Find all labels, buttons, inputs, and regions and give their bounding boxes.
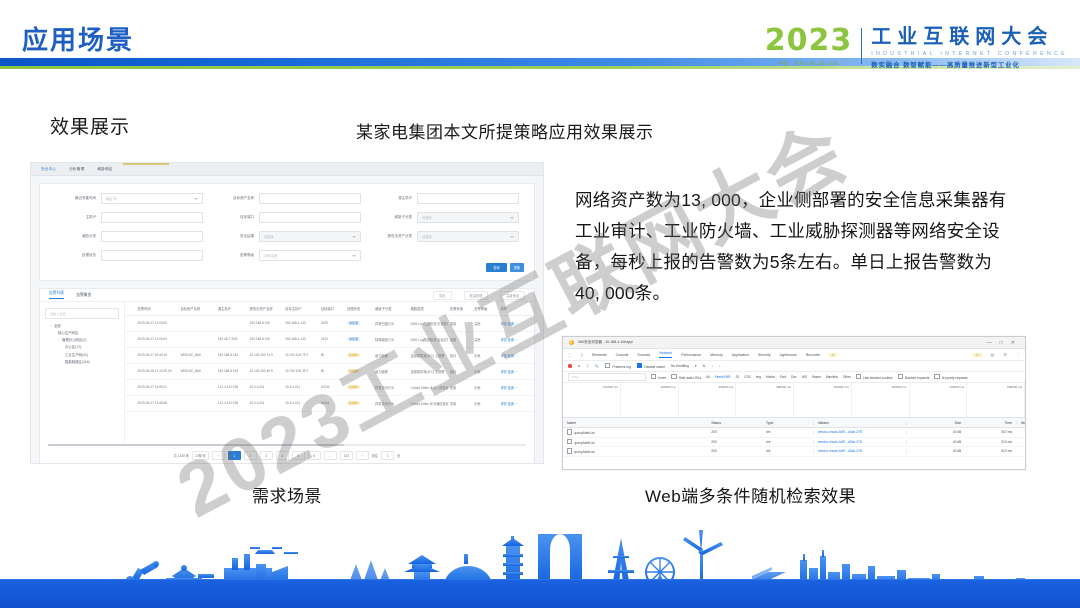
console-field: 威胁子分类请选择 [366,212,524,223]
console-field-input[interactable]: 最近7天 [101,193,203,204]
console-advanced-filter-button[interactable]: 高级筛选 [500,291,525,300]
timeline-tick-label: 500000 ms [834,385,849,389]
blocked-cookies-checkbox[interactable] [856,374,861,379]
cell-time: 2023-05-07 13:48:46 [135,401,178,405]
chevron-down-icon[interactable]: ▾ [695,364,697,368]
cell-source: 探针 [448,353,472,358]
record-network-icon[interactable] [568,364,572,368]
filter-funnel-icon[interactable]: ▽ [586,364,589,368]
cell-threat-desc: 连接数异常(IEC) 上报警 [409,353,448,358]
cell-attacked-asset: 192.168.8.119 [248,321,284,325]
console-col-target-asset: 目标资产名称 [178,306,215,311]
console-tree-node-label: 智能制造区(115) [65,360,90,364]
devtools-tab-network[interactable]: Network [659,351,672,358]
cell-threat-desc: Cobalt Strike 木马通信检测事件- [409,401,448,406]
pagination-page-4[interactable]: 4 [276,451,289,460]
pagination-page-3[interactable]: 3 [260,451,273,460]
cell-actions[interactable]: 详情 处置 ··· [498,369,534,374]
table-row[interactable]: 2023-05-07 12:03:04 192.168.8.119 192.16… [125,316,534,332]
filter-type-manifest[interactable]: Manifest [826,375,838,379]
cell-actions[interactable]: 详情 处置 ··· [498,385,534,390]
cell-actions[interactable]: 详情 处置 ··· [498,337,534,342]
page-title: 应用场景 [22,20,134,57]
filter-type-css[interactable]: CSS [744,375,751,379]
cell-target-asset: WEB.NC_BAK [178,353,215,357]
pagination-goto-input[interactable]: 1 [381,451,394,460]
request-status: 200 [707,440,762,444]
pagination-prev[interactable]: ‹ [212,451,225,460]
console-tree-node[interactable]: −全部 [45,325,119,329]
status-badge: 处理中 [347,385,360,389]
console-col-status: 处理状态 [345,306,373,311]
invert-toggle[interactable]: Invert [651,374,666,380]
logo-text-block: 工业互联网大会 INDUSTRIAL INTERNET CONFERENCE 数… [871,26,1068,69]
inspect-element-icon[interactable]: ⬚ [568,352,572,357]
footer-skyline-decoration [0,516,1080,608]
issues-icon[interactable]: ▤ [991,352,995,357]
export-har-icon[interactable]: ↑ [719,364,721,368]
filter-type-ws[interactable]: WS [802,375,807,379]
console-field: 源主机IP [366,193,524,204]
cell-port: 3139 [319,321,345,325]
request-name: queryAlertList [563,439,707,445]
request-name-label: queryAlertList [574,441,594,445]
search-icon[interactable]: 🔍 [595,364,599,368]
cell-attacked-asset: 10.3.4.211 [248,401,284,405]
conference-logo: 2023 中国 · 苏州 6月14日-16日 工业互联网大会 INDUSTRIA… [765,26,1068,69]
console-tab-2[interactable]: 威胁响应 [97,167,112,172]
devtools-tab-application[interactable]: Application [732,353,749,357]
disable-cache-checkbox[interactable] [637,363,642,368]
console-field-input[interactable] [101,250,203,261]
timeline-tick-label: 200000 ms [661,385,676,389]
console-batch-button[interactable]: 批量处理 [464,291,489,300]
window-minimize-button[interactable]: — [987,340,996,346]
devtools-recorder-badge: 4 [829,353,837,357]
console-field-input[interactable] [259,193,361,204]
request-type: xhr [762,449,813,453]
network-timeline-overview[interactable]: 100000 ms 200000 ms 300000 ms 400000 ms … [563,383,1025,418]
request-size: 40 kB [906,440,966,444]
invert-checkbox[interactable] [651,374,656,379]
console-field: 受攻击资产分类请选择 [366,231,524,242]
disable-cache-toggle[interactable]: Disable cache [637,363,665,369]
cell-actions[interactable]: 详情 处置 ··· [498,353,534,358]
devtools-panel-tabs: ⬚ ▯ Elements Console Sources Network Per… [563,349,1025,361]
logo-divider [861,28,862,64]
console-tree-node[interactable]: 办公区(72) [45,346,119,350]
console-alert-table: 告警时间 目标资产名称 源主机IP 受攻击资产名称 目标主机IP 目标端口 处理… [125,302,534,444]
timeline-tick-label: 100000 ms [603,385,618,389]
device-toolbar-icon[interactable]: ▯ [581,352,583,357]
throttling-select[interactable]: No throttling [671,364,689,368]
devtools-tab-performance[interactable]: Performance [681,353,701,357]
console-field: 目标资产名称 [208,193,366,204]
table-row[interactable]: 2023-05-06 17:10:29.03 WEB.NC_BAK 192.16… [125,364,534,380]
network-request-row[interactable]: queryAlertList 200 xhr vendor-chunk-5df7… [563,447,1025,457]
console-field: 主机IP [50,212,208,223]
preserve-log-toggle[interactable]: Preserve log [605,363,631,369]
logo-year: 2023 [765,26,853,56]
console-field-label: 告警等级 [208,253,254,258]
console-field-input[interactable] [259,212,361,223]
console-col-target-ip: 目标主机IP [283,306,319,311]
pagination-page-6[interactable]: 6 [308,451,321,460]
console-field-label: 处理状态 [50,253,96,258]
console-col-threat-desc: 威胁描述 [409,306,448,311]
cell-target-asset: WEB.NC_BAK [178,369,215,373]
pagination-goto-label: 前往 [372,453,378,458]
cell-target-ip: 10.700.100.39 2 [283,369,319,373]
cell-source: 流量 [448,337,472,342]
request-initiator: vendor-chunk-5df7...d3cb.278 [813,449,906,453]
cell-target-ip: 10.3.4.211 [283,385,319,389]
console-tab-0[interactable]: 安全中心 [41,167,56,172]
console-tree-node[interactable]: 工业生产网(41) [45,354,119,358]
hide-data-urls-checkbox[interactable] [671,374,676,379]
pagination-next[interactable]: › [356,451,369,460]
timeline-tick-label: 700000 ms [949,385,964,389]
status-badge: 未处理 [347,337,360,341]
network-col-name[interactable]: Name [563,421,707,425]
filter-type-doc[interactable]: Doc [791,375,797,379]
request-type-icon [567,448,572,453]
cell-time: 2023-05-07 12:03:04 [135,321,178,325]
hide-data-urls-label: Hide data URLs [679,376,702,380]
console-col-actions: 操作 [498,306,534,311]
cell-port: 10244 [319,385,345,389]
cell-source-ip: 121.4.212.196 [216,401,248,405]
hide-data-urls-toggle[interactable]: Hide data URLs [671,374,701,380]
console-subtab-alert-list[interactable]: 告警列表 [49,291,64,299]
security-console-screenshot: 安全中心 分析管理 威胁响应 最近采集时间最近7天 目标资产名称 源主机IP 主… [30,162,544,464]
devtools-tab-recorder[interactable]: Recorder [806,353,820,357]
request-initiator-link[interactable]: vendor-chunk-5df7...d3cb.278 [818,440,862,444]
filter-type-img[interactable]: Img [756,375,761,379]
cell-target-ip: 192.168.4.133 [283,337,319,341]
request-size: 40 kB [906,449,966,453]
devtools-tab-memory[interactable]: Memory [710,353,723,357]
console-form-row: 威胁分类 攻击结果请选择 受攻击资产分类请选择 [50,231,524,242]
network-col-time[interactable]: Time [965,421,1016,425]
filter-type-js[interactable]: JS [735,375,739,379]
console-tree-search-input[interactable]: 请输入名称 [45,308,119,319]
cell-status: 处理中 [345,401,373,405]
scrollbar-thumb[interactable] [48,444,344,447]
console-search-button[interactable]: 查询 [486,263,506,272]
console-field: 最近采集时间最近7天 [50,193,208,204]
window-maximize-button[interactable]: □ [1000,340,1007,346]
console-col-source-ip: 源主机IP [216,306,248,311]
console-field-input[interactable]: 请选择 [417,231,519,242]
console-col-source: 告警来源 [448,306,472,311]
network-filter-bar: Filter Invert Hide data URLs All Fetch/X… [563,372,1025,383]
console-tree-node-label: 工业生产网(41) [65,353,88,357]
cell-threat-subtype: 特殊威胁行为 [373,337,409,342]
skyline-water [0,580,1080,608]
timeline-tick: 700000 ms [910,383,968,417]
preserve-log-label: Preserve log [612,365,631,369]
request-type: xhr [762,440,813,444]
filter-type-font[interactable]: Font [780,375,786,379]
cell-source: 流量 [448,385,472,390]
console-results-body: 请输入名称 −全部 核心生产网区 −管理办公网区(2) 办公区(72) 工业生产… [40,302,534,444]
network-conditions-icon[interactable]: ⇅ [702,364,705,368]
logo-year-block: 2023 中国 · 苏州 6月14日-16日 [765,26,862,67]
cell-threat-desc: Cobalt Strike 木马入侵检测事件- [409,385,448,390]
network-toolbar: ⊘ ▽ 🔍 Preserve log Disable cache No thro… [563,361,1025,372]
devtools-tab-elements[interactable]: Elements [592,353,607,357]
filter-type-all[interactable]: All [706,375,710,379]
third-party-label: 3rd-party requests [942,376,968,380]
console-form-row: 主机IP 目标端口 威胁子分类请选择 [50,212,524,223]
settings-gear-icon[interactable]: ⚙ [1003,352,1007,357]
cell-time: 2023-05-06 17:10:29.03 [135,369,178,373]
pagination-page-last[interactable]: 143 [340,451,353,460]
timeline-tick-label: 600000 ms [892,385,907,389]
cell-status: 处理中 [345,385,373,389]
console-tree-node[interactable]: 智能制造区(115) [45,361,119,365]
console-col-target-port: 目标端口 [319,306,345,311]
clear-network-icon[interactable]: ⊘ [578,364,581,368]
console-form-row: 最近采集时间最近7天 目标资产名称 源主机IP [50,193,524,204]
logo-chinese-name: 工业互联网大会 [871,27,1068,48]
console-field-label: 最近采集时间 [50,196,96,201]
console-field-label: 主机IP [50,215,96,220]
filter-type-other[interactable]: Other [843,375,851,379]
cell-attacked-asset: 10.100.100.74 9 [248,353,284,357]
cell-time: 2023-05-07 12:00:04 [135,337,178,341]
blocked-cookies-label: Has blocked cookies [863,376,892,380]
third-party-checkbox[interactable] [934,374,939,379]
console-field-input[interactable]: 请选择 [417,212,519,223]
network-request-row[interactable]: queryAlertList 200 xhr vendor-chunk-5df7… [563,438,1025,448]
timeline-tick: 600000 ms [852,383,910,417]
console-reset-button[interactable]: 重置 [510,263,524,272]
console-field-label: 攻击结果 [208,234,254,239]
console-field: 威胁分类 [50,231,208,242]
pagination-page-size[interactable]: 10条/页 [192,451,209,460]
pagination-goto-unit: 页 [397,453,400,458]
console-form-row: 处理状态 告警等级中危/高危 [50,250,524,261]
console-export-button[interactable]: 导出 [433,291,451,300]
cell-port: 80 [319,353,345,357]
cell-threat-subtype: 异常访问行为 [373,385,409,390]
console-field-label: 源主机IP [366,196,412,201]
filter-type-media[interactable]: Media [766,375,775,379]
request-size: 40 kB [906,430,966,434]
cell-level: 中危 [472,385,498,390]
request-type-icon [567,429,572,434]
devtools-tab-console[interactable]: Console [616,353,629,357]
pagination-page-5[interactable]: 5 [292,451,305,460]
network-request-row[interactable]: queryAlertList 200 xhr vendor-chunk-5df7… [563,428,1025,438]
console-subtab-alert-overview[interactable]: 告警概览 [76,293,91,298]
blocked-requests-checkbox[interactable] [898,374,903,379]
cell-threat-desc: DNS Log隧道检测 会话记录解析 [409,337,448,342]
request-initiator: vendor-chunk-5df7...d3cb.278 [813,440,906,444]
timeline-tick-label: 800000 ms [1007,385,1022,389]
cell-actions[interactable]: 详情 处置 ··· [498,401,534,406]
section-label: 效果展示 [50,112,130,139]
figure-title: 某家电集团本文所提策略应用效果展示 [356,118,654,143]
console-select-all-checkbox[interactable] [125,306,135,311]
console-tree-node-label: 管理办公网区(2) [62,338,87,342]
timeline-tick: 200000 ms [621,383,679,417]
devtools-tab-lighthouse[interactable]: Lighthouse [780,353,797,357]
import-har-icon[interactable]: ↓ [711,364,713,368]
cell-actions[interactable]: 详情 处置 ··· [498,321,534,326]
console-tree-node-label: 办公区(72) [65,345,81,349]
request-name-label: queryAlertList [574,431,594,435]
cell-status: 未处理 [345,321,373,325]
cell-source-ip: 192.168.8.181 [216,353,248,357]
console-field-label: 目标资产名称 [208,196,254,201]
devtools-tab-security[interactable]: Security [758,353,771,357]
devtools-window-titlebar: 360安全浏览器 - 10.188.4.1/#/app/ — □ ✕ [563,337,1025,349]
timeline-tick: 400000 ms [736,383,794,417]
cell-target-ip: 10.3.4.211 [283,401,319,405]
filter-type-fetch-xhr[interactable]: Fetch/XHR [715,375,731,379]
timeline-tick-label: 300000 ms [718,385,733,389]
cell-status: 处理中 [345,369,373,373]
cell-level: 中危 [472,401,498,406]
request-initiator-link[interactable]: vendor-chunk-5df7...d3cb.278 [818,430,862,434]
filter-type-wasm[interactable]: Wasm [812,375,821,379]
devtools-tab-sources[interactable]: Sources [637,353,650,357]
pagination-page-2[interactable]: 2 [244,451,257,460]
network-filter-input[interactable]: Filter [568,373,646,382]
console-field-label: 目标端口 [208,215,254,220]
console-field-input[interactable] [417,193,519,204]
request-status: 200 [707,449,762,453]
console-tab-1[interactable]: 分析管理 [69,167,84,172]
timeline-tick-label: 400000 ms [776,385,791,389]
cell-status: 未处理 [345,337,373,341]
network-col-initiator[interactable]: Initiator [813,421,906,425]
caption-demand-scenario: 需求场景 [252,482,322,507]
request-initiator-link[interactable]: vendor-chunk-5df7...d3cb.278 [818,449,862,453]
request-time: 313 ms [965,440,1016,444]
warning-count-icon[interactable]: ⚠ [973,353,982,357]
console-field-input[interactable] [101,231,203,242]
console-top-tabs[interactable]: 安全中心 分析管理 威胁响应 [31,163,543,176]
console-tree-node-label: 核心生产网区 [58,331,78,335]
request-type-icon [567,439,572,444]
cell-level: 中危 [472,353,498,358]
timeline-tick: 100000 ms [563,383,621,417]
preserve-log-checkbox[interactable] [605,363,610,368]
network-table-header: Name Status Type Initiator Size Time Wat… [563,418,1025,428]
cell-threat-subtype: 异常扫描行为 [373,321,409,326]
console-field-label: 威胁子分类 [366,215,412,220]
network-col-waterfall[interactable]: Waterfall [1016,421,1025,425]
devtools-screenshot: 360安全浏览器 - 10.188.4.1/#/app/ — □ ✕ ⬚ ▯ E… [562,336,1026,470]
request-name: queryAlertList [563,429,707,435]
console-field-label: 受攻击资产分类 [366,234,412,239]
console-field-input[interactable]: 请选择 [259,231,361,242]
cell-level: 高危 [472,321,498,326]
cell-port: 3134 [319,337,345,341]
console-col-time: 告警时间 [135,306,178,311]
cell-threat-subtype: 暴力破解 [373,369,409,374]
blocked-requests-toggle[interactable]: Blocked requests [898,374,930,380]
body-paragraph: 网络资产数为13, 000，企业侧部署的安全信息采集器有工业审计、工业防火墙、工… [575,185,1010,309]
cell-port: 52441 [319,401,345,405]
console-table-header: 告警时间 目标资产名称 源主机IP 受攻击资产名称 目标主机IP 目标端口 处理… [125,302,534,316]
network-col-status[interactable]: Status [707,421,762,425]
request-time: 547 ms [965,430,1016,434]
timeline-tick: 500000 ms [794,383,852,417]
status-badge: 未处理 [347,321,360,325]
request-type: xhr [762,430,813,434]
console-field-spacer [366,250,524,261]
table-row[interactable]: 2023-05-07 13:48:46 121.4.212.196 10.3.4… [125,396,534,412]
cell-threat-desc: 连接数异常(IEC) 上报警 [409,369,448,374]
pagination-page-1[interactable]: 1 [228,451,241,460]
network-col-size[interactable]: Size [906,421,966,425]
cell-time: 2023-05-07 10:44:19 [135,353,178,357]
cell-source: 流量 [448,321,472,326]
table-row[interactable]: 2023-05-07 10:44:19 WEB.NC_BAK 192.168.8… [125,348,534,364]
cell-attacked-asset: 192.168.8.119 [248,337,284,341]
status-badge: 处理中 [347,401,360,405]
cell-source-ip: 192.168.8.193 [216,369,248,373]
devtools-window-title: 360安全浏览器 - 10.188.4.1/#/app/ [578,340,633,345]
console-search-form: 最近采集时间最近7天 目标资产名称 源主机IP 主机IP 目标端口 威胁子分类请… [39,183,535,281]
disable-cache-label: Disable cache [644,365,665,369]
network-col-type[interactable]: Type [762,421,813,425]
console-field-input[interactable]: 中危/高危 [259,250,361,261]
console-field: 告警等级中危/高危 [208,250,366,261]
cell-level: 高危 [472,337,498,342]
console-asset-tree: 请输入名称 −全部 核心生产网区 −管理办公网区(2) 办公区(72) 工业生产… [40,302,125,444]
blocked-cookies-toggle[interactable]: Has blocked cookies [856,374,893,380]
cell-level: 中危 [472,369,498,374]
table-row[interactable]: 2023-05-07 12:00:04 192.45.7.33.8 192.16… [125,332,534,348]
console-col-level: 告警等级 [472,306,498,311]
cell-threat-subtype: 暴力破解 [373,353,409,358]
cell-target-ip: 10.100.100.79 2 [283,353,319,357]
window-close-button[interactable]: ✕ [1011,340,1019,346]
console-field-input[interactable] [101,212,203,223]
more-options-icon[interactable]: ⋮ [1016,352,1020,357]
request-name: queryAlertList [563,448,707,454]
request-status: 200 [707,430,762,434]
status-badge: 处理中 [347,353,360,357]
table-row[interactable]: 2023-05-07 14:05:11 121.4.212.196 10.3.4… [125,380,534,396]
caption-web-retrieval: Web端多条件随机检索效果 [645,482,856,507]
timeline-tick: 800000 ms [967,383,1025,417]
logo-english-name: INDUSTRIAL INTERNET CONFERENCE [871,51,1068,57]
third-party-toggle[interactable]: 3rd-party requests [934,374,967,380]
console-horizontal-scrollbar[interactable] [48,444,526,447]
request-time: 512 ms [965,449,1016,453]
logo-year-subtitle: 中国 · 苏州 6月14日-16日 [765,61,853,67]
console-tree-node[interactable]: −管理办公网区(2) [45,339,119,343]
cell-threat-desc: DNS Log隧道检测 记录查询 [409,321,448,326]
console-tree-node[interactable]: 核心生产网区 [45,332,119,336]
console-field: 处理状态 [50,250,208,261]
console-form-buttons: 查询 重置 [486,263,524,272]
request-initiator: vendor-chunk-5df7...d3cb.278 [813,430,906,434]
console-tree-node-label: 全部 [54,324,61,328]
console-pagination: 共 1428 条 10条/页 ‹ 1 2 3 4 5 6 … 143 › 前往 … [40,446,534,464]
request-name-label: queryAlertList [574,450,594,454]
cell-source-ip: 121.4.212.196 [216,385,248,389]
console-result-tabs: 告警列表 告警概览 导出 批量处理 高级筛选 [40,289,534,302]
cell-attacked-asset: 10.100.100.39 9 [248,369,284,373]
